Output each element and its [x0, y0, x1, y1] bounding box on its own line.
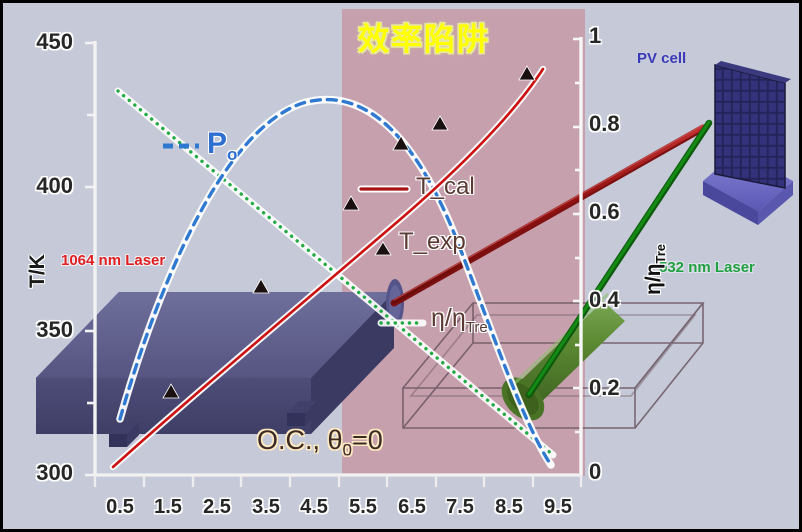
x-tick-3: 3.5 [242, 497, 290, 517]
x-tick-1: 1.5 [144, 497, 192, 517]
y2-tick-0.2: 0.2 [589, 377, 649, 399]
label-1064-nm-laser: 1064 nm Laser [61, 253, 165, 268]
legend-po-sub: o [227, 145, 237, 164]
annotation-theta-sub: 0 [343, 440, 352, 459]
label-pv-cell: PV cell [637, 51, 686, 66]
legend-eta-text: η/η [431, 304, 466, 332]
y2-tick-0: 0 [589, 461, 649, 483]
label-532-nm-laser: 532 nm Laser [659, 260, 755, 275]
x-tick-8: 8.5 [485, 497, 533, 517]
annotation-theta-eq: =0 [352, 425, 383, 455]
x-tick-0: 0.5 [96, 497, 144, 517]
figure-canvas: 效率陷阱 450 400 350 300 T/K 1 0.8 0.6 0.4 0… [0, 0, 802, 532]
chart-title-cn: 效率陷阱 [358, 25, 490, 56]
y-tick-400: 400 [13, 175, 73, 197]
y-tick-300: 300 [13, 462, 73, 484]
y2-tick-1: 1 [589, 25, 649, 47]
legend-label-t-cal: T_cal [416, 175, 475, 199]
legend-label-eta: η/ηTre [431, 306, 488, 335]
legend-label-po: Po [207, 129, 237, 163]
y-tick-450: 450 [13, 31, 73, 53]
legend-po-text: P [207, 127, 227, 160]
annotation-oc-theta: O.C., θ0=0 [257, 427, 383, 458]
annotation-theta-symbol: θ [328, 425, 343, 455]
annotation-oc-text: O.C., [257, 425, 328, 455]
label-eta-vertical-main: η/η [642, 264, 665, 296]
legend-eta-sub: Tre [466, 319, 488, 336]
x-tick-4: 4.5 [290, 497, 338, 517]
x-tick-5: 5.5 [339, 497, 387, 517]
y2-tick-0.6: 0.6 [589, 201, 649, 223]
x-tick-9: 9.5 [534, 497, 582, 517]
x-tick-6: 6.5 [388, 497, 436, 517]
label-eta-vertical: η/ηTre [643, 244, 667, 295]
legend-label-t-exp: T_exp [399, 230, 466, 254]
y2-tick-0.8: 0.8 [589, 113, 649, 135]
x-tick-7: 7.5 [436, 497, 484, 517]
pv-cell [703, 61, 793, 225]
x-tick-2: 2.5 [193, 497, 241, 517]
y2-tick-0.4: 0.4 [589, 289, 649, 311]
y-tick-350: 350 [13, 319, 73, 341]
label-eta-vertical-sub: Tre [653, 244, 668, 264]
y-axis-title: T/K [27, 254, 48, 288]
